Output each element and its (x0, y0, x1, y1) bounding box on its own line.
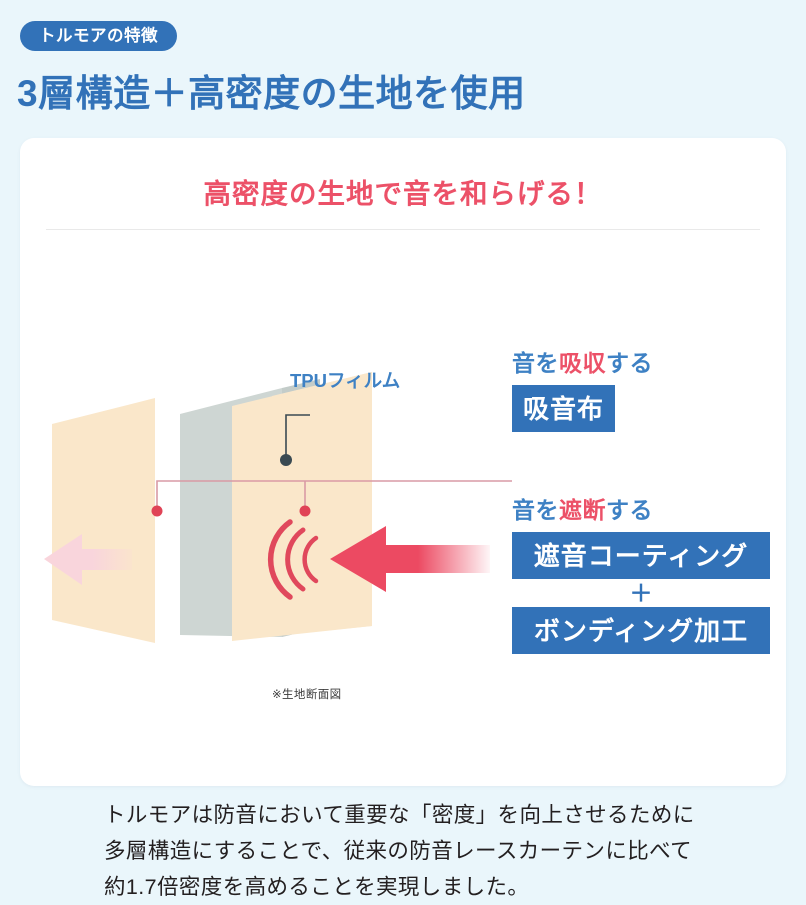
body-copy-line-3: 約1.7倍密度を高めることを実現しました。 (104, 869, 764, 905)
cross-section-note: ※生地断面図 (272, 686, 342, 702)
chip-separator-plus: ＋ (512, 582, 770, 605)
absorb-marker-dot-front (300, 506, 311, 517)
feature-badge: トルモアの特徴 (20, 21, 177, 51)
callout-absorb-lead-highlight: 吸収 (559, 350, 606, 376)
body-copy-line-1: トルモアは防音において重要な「密度」を向上させるために (104, 797, 764, 833)
callout-sound-block: 音を遮断する 遮音コーティング ＋ ボンディング加工 (512, 491, 770, 654)
callout-block-lead: 音を遮断する (512, 491, 770, 525)
feature-card: 高密度の生地で音を和らげる！ (20, 138, 786, 786)
card-title: 高密度の生地で音を和らげる！ (20, 171, 786, 211)
chip-sound-insulation-coating: 遮音コーティング (512, 532, 770, 579)
chip-absorb-fabric: 吸音布 (512, 385, 615, 432)
callout-absorb-lead: 音を吸収する (512, 344, 653, 378)
callout-absorb-lead-prefix: 音を (512, 350, 559, 376)
callout-block-lead-prefix: 音を (512, 497, 559, 523)
absorb-marker-dot-back (152, 506, 163, 517)
body-copy: トルモアは防音において重要な「密度」を向上させるために 多層構造にすることで、従… (104, 797, 764, 905)
layer-front-panel (206, 372, 372, 643)
callout-absorb-lead-suffix: する (606, 350, 653, 376)
tpu-film-label: TPUフィルム (290, 367, 400, 393)
title-divider (46, 229, 760, 230)
layer-back-panel (52, 398, 155, 643)
callout-block-lead-highlight: 遮断 (559, 497, 606, 523)
page-headline: 3層構造＋高密度の生地を使用 (17, 63, 526, 117)
body-copy-line-2: 多層構造にすることで、従来の防音レースカーテンに比べて (104, 833, 764, 869)
callout-block-lead-suffix: する (606, 497, 653, 523)
infographic-page: トルモアの特徴 3層構造＋高密度の生地を使用 高密度の生地で音を和らげる！ (0, 0, 806, 806)
callout-sound-absorb: 音を吸収する 吸音布 (512, 344, 653, 432)
tpu-marker-dot (280, 454, 292, 466)
chip-bonding-process: ボンディング加工 (512, 607, 770, 654)
